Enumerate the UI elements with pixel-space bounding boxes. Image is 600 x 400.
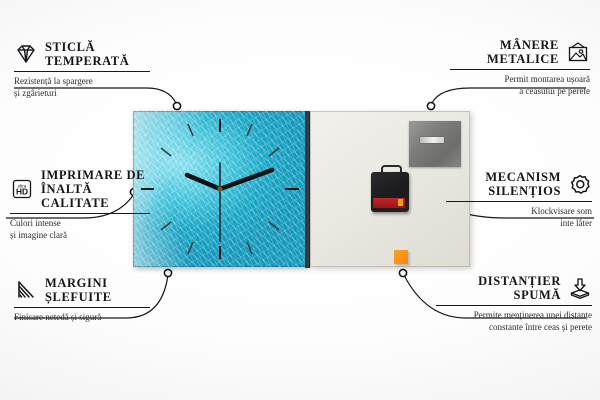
callout-edges-subtitle: Finisare netedă și sigură (14, 311, 150, 323)
callout-mechanism-subtitle: Klockvisare som inte låter (446, 205, 592, 229)
ultra-hd-icon-label: HD (16, 187, 28, 197)
hour-hand (187, 175, 220, 189)
callout-spacer-subtitle: Permite menținerea unei distanțe constan… (436, 309, 592, 333)
callout-glass: STICLĂ TEMPERATĂ Rezistență la spargere … (14, 40, 150, 99)
callout-glass-rule (14, 71, 150, 72)
callout-edges-head: MARGINI ȘLEFUITE (14, 276, 150, 304)
callout-mechanism: MECANISM SILENȚIOS Klockvisare som inte … (446, 170, 592, 229)
diamond-icon (14, 43, 38, 65)
foam-spacer (394, 250, 408, 264)
callout-glass-head: STICLĂ TEMPERATĂ (14, 40, 150, 68)
callout-edges: MARGINI ȘLEFUITE Finisare netedă și sigu… (14, 276, 150, 323)
callout-handles-subtitle: Permit montarea ușoară a ceasului pe per… (450, 73, 590, 97)
callout-mechanism-rule (446, 201, 592, 202)
anchor-dot-handles (427, 102, 434, 109)
callout-glass-title: STICLĂ TEMPERATĂ (45, 40, 129, 68)
callout-print-head: ultra HD IMPRIMARE DE ÎNALTĂ CALITATE (10, 168, 150, 210)
gear-icon (568, 173, 592, 195)
callout-edges-rule (14, 307, 150, 308)
ultra-hd-icon: ultra HD (10, 178, 34, 200)
callout-print-title: IMPRIMARE DE ÎNALTĂ CALITATE (41, 168, 150, 210)
minute-hand (220, 170, 272, 189)
callout-glass-subtitle: Rezistență la spargere și zgârieturi (14, 75, 150, 99)
callout-print-rule (10, 213, 150, 214)
callout-spacer-head: DISTANȚIER SPUMĂ (436, 274, 592, 302)
callout-mechanism-head: MECANISM SILENȚIOS (446, 170, 592, 198)
down-arrow-pad-icon (568, 277, 592, 299)
metal-hanger (409, 121, 461, 167)
clock-center-pin (217, 186, 222, 191)
callout-mechanism-title: MECANISM SILENȚIOS (485, 170, 561, 198)
callout-handles: MÂNERE METALICE Permit montarea ușoară a… (450, 38, 590, 97)
picture-hanger-icon (566, 41, 590, 63)
polished-edge-icon (14, 279, 38, 301)
callout-handles-title: MÂNERE METALICE (487, 38, 559, 66)
callout-print: ultra HD IMPRIMARE DE ÎNALTĂ CALITATE Cu… (10, 168, 150, 241)
battery (373, 198, 405, 208)
callout-handles-head: MÂNERE METALICE (450, 38, 590, 66)
callout-print-subtitle: Culori intense și imagine clară (10, 217, 150, 241)
anchor-dot-edges (164, 269, 171, 276)
anchor-dot-spacer (399, 269, 406, 276)
callout-spacer: DISTANȚIER SPUMĂ Permite menținerea unei… (436, 274, 592, 333)
callout-spacer-title: DISTANȚIER SPUMĂ (478, 274, 561, 302)
callout-spacer-rule (436, 305, 592, 306)
clock-dial (133, 111, 307, 267)
anchor-dot-glass (173, 102, 180, 109)
callout-edges-title: MARGINI ȘLEFUITE (45, 276, 112, 304)
callout-handles-rule (450, 69, 590, 70)
infographic-canvas: STICLĂ TEMPERATĂ Rezistență la spargere … (0, 0, 600, 400)
